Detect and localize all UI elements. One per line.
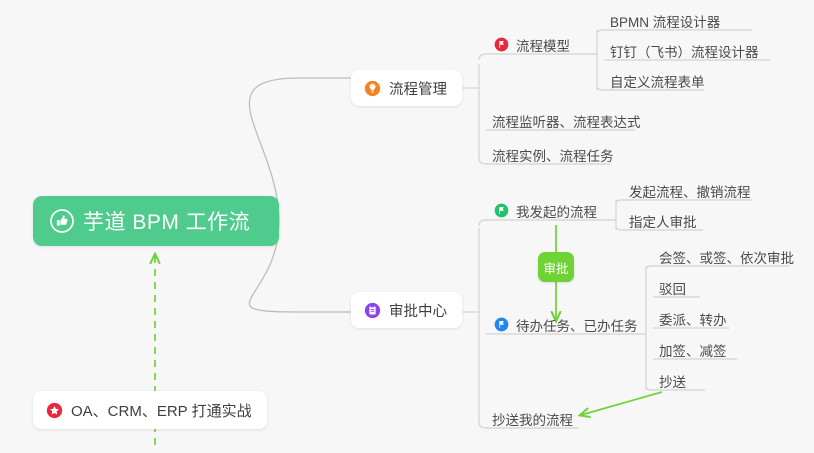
connector-process-spine-top bbox=[479, 54, 488, 60]
thumbs-up-icon bbox=[50, 209, 74, 233]
connector-approval-spine-top bbox=[479, 220, 488, 226]
leaf-dingtalk-designer[interactable]: 钉钉（飞书）流程设计器 bbox=[604, 46, 765, 66]
mindmap-canvas: 芋道 BPM 工作流 流程管理 审批中心 bbox=[0, 0, 814, 453]
leaf-custom-form[interactable]: 自定义流程表单 bbox=[604, 76, 711, 96]
approval-badge: 审批 bbox=[538, 252, 574, 282]
leaf-process-model[interactable]: 流程模型 bbox=[490, 40, 576, 60]
leaf-cc[interactable]: 抄送 bbox=[653, 376, 692, 396]
lightbulb-icon bbox=[364, 80, 381, 97]
node-approval-center[interactable]: 审批中心 bbox=[351, 292, 462, 328]
leaf-countersign[interactable]: 会签、或签、依次审批 bbox=[653, 252, 800, 272]
leaf-add-remove-sign[interactable]: 加签、减签 bbox=[653, 345, 733, 365]
leaf-custom-form-label: 自定义流程表单 bbox=[610, 75, 705, 90]
leaf-instance-task-label: 流程实例、流程任务 bbox=[492, 149, 614, 164]
leaf-start-cancel-process-label: 发起流程、撤销流程 bbox=[629, 185, 751, 200]
leaf-assign-approver[interactable]: 指定人审批 bbox=[623, 216, 703, 236]
leaf-start-cancel-process[interactable]: 发起流程、撤销流程 bbox=[623, 186, 757, 206]
leaf-my-started-process-label: 我发起的流程 bbox=[516, 205, 597, 220]
star-icon bbox=[46, 402, 63, 419]
node-process-management-label: 流程管理 bbox=[389, 78, 447, 99]
leaf-process-model-label: 流程模型 bbox=[516, 39, 570, 54]
leaf-my-started-process[interactable]: 我发起的流程 bbox=[490, 206, 603, 226]
leaf-delegate-transfer[interactable]: 委派、转办 bbox=[653, 314, 733, 334]
node-approval-center-label: 审批中心 bbox=[389, 300, 447, 321]
leaf-cc-to-me[interactable]: 抄送我的流程 bbox=[486, 414, 579, 434]
node-process-management[interactable]: 流程管理 bbox=[351, 70, 462, 106]
leaf-instance-task[interactable]: 流程实例、流程任务 bbox=[486, 150, 620, 170]
leaf-reject[interactable]: 驳回 bbox=[653, 283, 692, 303]
flag-icon bbox=[494, 203, 509, 218]
node-integration-practice[interactable]: OA、CRM、ERP 打通实战 bbox=[33, 391, 267, 429]
leaf-bpmn-designer[interactable]: BPMN 流程设计器 bbox=[604, 16, 726, 36]
leaf-bpmn-designer-label: BPMN 流程设计器 bbox=[610, 15, 720, 30]
root-label: 芋道 BPM 工作流 bbox=[83, 206, 250, 236]
leaf-todo-done-tasks-label: 待办任务、已办任务 bbox=[516, 319, 638, 334]
leaf-reject-label: 驳回 bbox=[659, 282, 686, 297]
leaf-delegate-transfer-label: 委派、转办 bbox=[659, 313, 727, 328]
clipboard-icon bbox=[364, 302, 381, 319]
leaf-todo-done-tasks[interactable]: 待办任务、已办任务 bbox=[490, 320, 644, 340]
cc-flow-arrow bbox=[581, 392, 662, 415]
leaf-add-remove-sign-label: 加签、减签 bbox=[659, 344, 727, 359]
approval-badge-label: 审批 bbox=[543, 258, 568, 277]
leaf-cc-label: 抄送 bbox=[659, 375, 686, 390]
flag-icon bbox=[494, 37, 509, 52]
node-integration-practice-label: OA、CRM、ERP 打通实战 bbox=[71, 400, 252, 421]
leaf-listener-expression[interactable]: 流程监听器、流程表达式 bbox=[486, 116, 647, 136]
leaf-assign-approver-label: 指定人审批 bbox=[629, 215, 697, 230]
leaf-listener-expression-label: 流程监听器、流程表达式 bbox=[492, 115, 641, 130]
root-node[interactable]: 芋道 BPM 工作流 bbox=[33, 196, 279, 246]
leaf-dingtalk-designer-label: 钉钉（飞书）流程设计器 bbox=[610, 45, 759, 60]
leaf-countersign-label: 会签、或签、依次审批 bbox=[659, 251, 794, 266]
flag-icon bbox=[494, 317, 509, 332]
leaf-cc-to-me-label: 抄送我的流程 bbox=[492, 413, 573, 428]
